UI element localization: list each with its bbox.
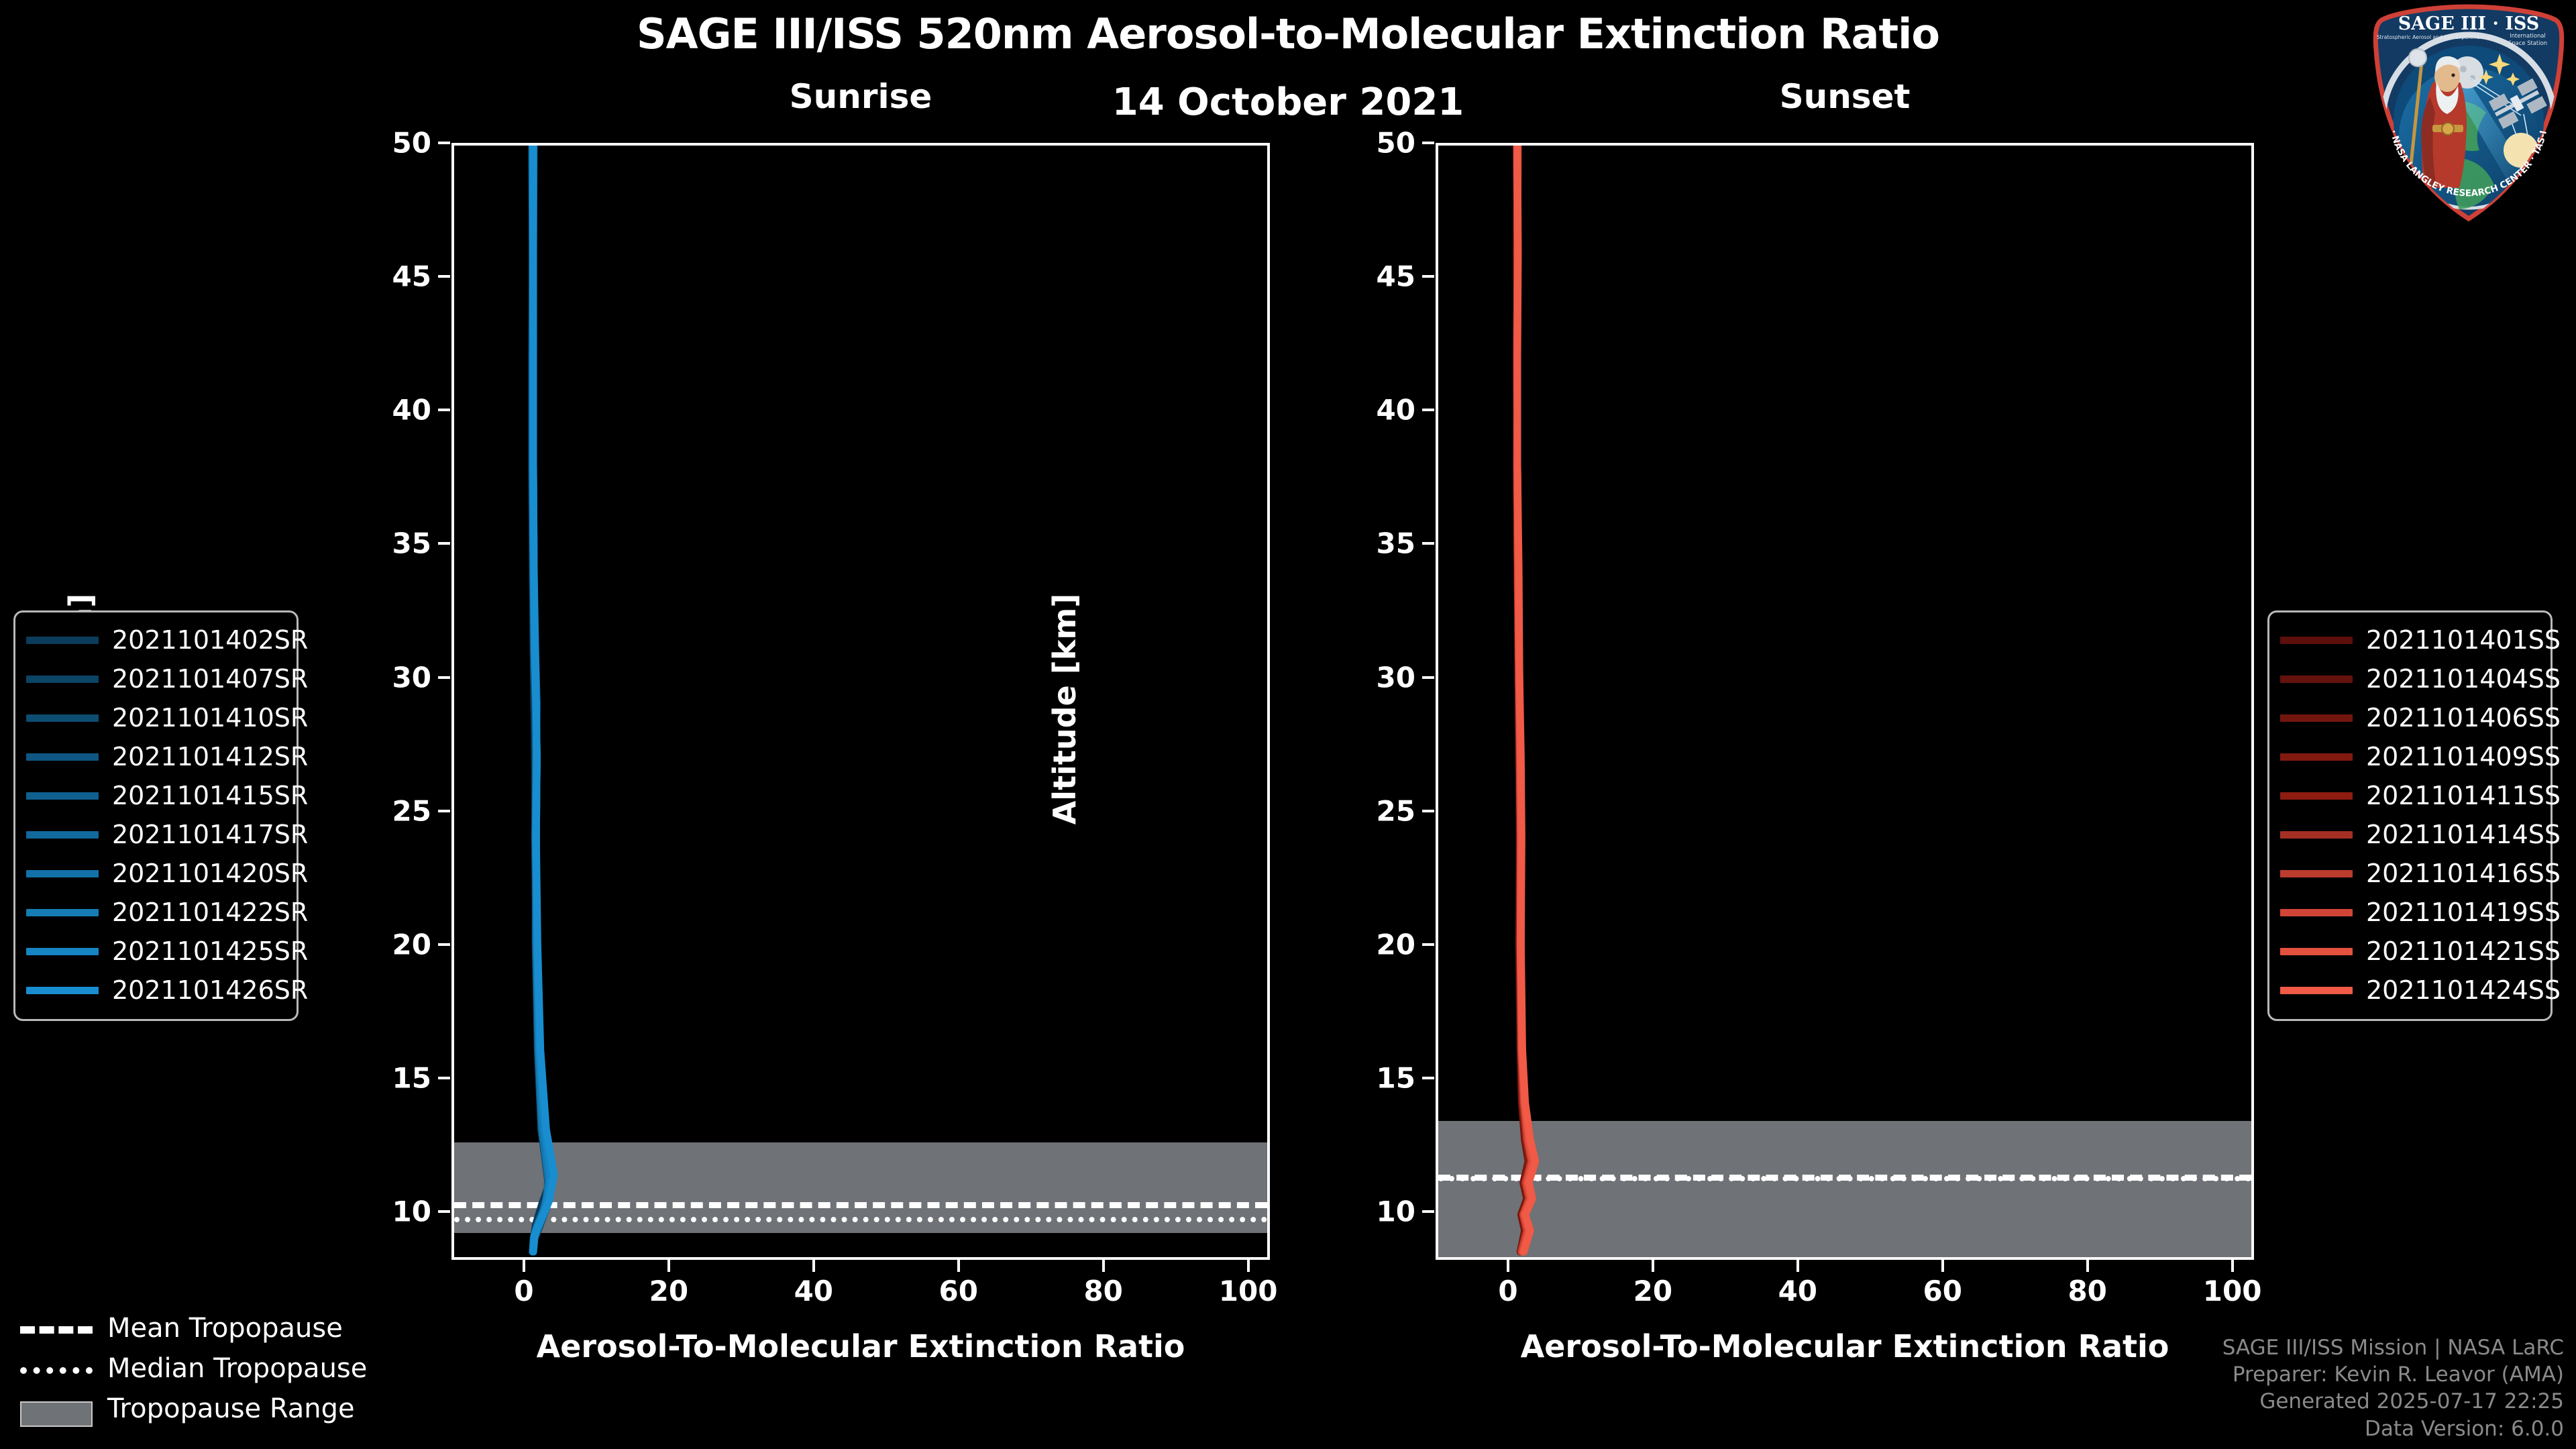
y-tick-mark — [1422, 810, 1434, 812]
legend-label: 2021101410SR — [112, 703, 308, 733]
x-tick-mark — [1941, 1260, 1944, 1272]
legend-item[interactable]: 2021101424SS — [2280, 971, 2540, 1010]
legend-label: 2021101402SR — [112, 625, 308, 655]
legend-color-swatch — [2280, 792, 2353, 800]
legend-item[interactable]: 2021101414SS — [2280, 815, 2540, 854]
y-tick-label: 30 — [351, 661, 431, 694]
y-tick-mark — [438, 1077, 450, 1079]
legend-item[interactable]: 2021101404SS — [2280, 659, 2540, 698]
legend-item[interactable]: 2021101417SR — [26, 815, 286, 854]
series-lines-sunset — [1438, 146, 2251, 1257]
credit-preparer: Preparer: Kevin R. Leavor (AMA) — [2222, 1361, 2564, 1388]
y-tick-mark — [438, 542, 450, 545]
legend-tropopause: Mean Tropopause Median Tropopause Tropop… — [20, 1308, 369, 1429]
legend-label-mean: Mean Tropopause — [107, 1313, 343, 1344]
x-tick-mark — [523, 1260, 525, 1272]
legend-label: 2021101425SR — [112, 936, 308, 966]
y-tick-label: 40 — [1335, 394, 1415, 427]
panel-title-sunset: Sunset — [1436, 77, 2254, 116]
y-tick-label: 10 — [1335, 1195, 1415, 1228]
y-tick-mark — [1422, 943, 1434, 946]
legend-label-range: Tropopause Range — [107, 1393, 355, 1424]
legend-label: 2021101420SR — [112, 859, 308, 888]
y-tick-mark — [1422, 1210, 1434, 1213]
legend-label: 2021101414SS — [2366, 820, 2561, 849]
legend-color-swatch — [2280, 714, 2353, 722]
legend-item[interactable]: 2021101425SR — [26, 932, 286, 971]
x-tick-label: 80 — [1083, 1275, 1122, 1307]
series-lines-sunrise — [454, 146, 1267, 1257]
y-tick-label: 40 — [351, 394, 431, 427]
legend-color-swatch — [2280, 948, 2353, 955]
legend-item[interactable]: 2021101406SS — [2280, 698, 2540, 737]
plot-panel-sunset: 101520253035404550 020406080100 — [1436, 143, 2254, 1260]
y-tick-label: 25 — [1335, 794, 1415, 827]
legend-color-swatch — [26, 637, 99, 644]
legend-color-swatch — [2280, 831, 2353, 839]
y-tick-mark — [1422, 409, 1434, 411]
plot-area-sunrise — [451, 143, 1270, 1260]
legend-color-swatch — [26, 909, 99, 916]
legend-label: 2021101426SR — [112, 975, 308, 1005]
legend-item[interactable]: 2021101426SR — [26, 971, 286, 1010]
legend-color-swatch — [2280, 676, 2353, 683]
legend-color-swatch — [26, 792, 99, 800]
legend-label: 2021101411SS — [2366, 781, 2561, 810]
legend-label: 2021101404SS — [2366, 664, 2561, 694]
legend-item[interactable]: 2021101415SR — [26, 776, 286, 815]
y-tick-label: 20 — [1335, 928, 1415, 961]
y-tick-label: 45 — [351, 260, 431, 293]
x-axis-title-sunset: Aerosol-To-Molecular Extinction Ratio — [1436, 1328, 2254, 1364]
x-tick-label: 20 — [649, 1275, 688, 1307]
x-tick-mark — [667, 1260, 670, 1272]
page-title: SAGE III/ISS 520nm Aerosol-to-Molecular … — [0, 9, 2576, 58]
legend-color-swatch — [2280, 909, 2353, 916]
legend-item[interactable]: 2021101419SS — [2280, 893, 2540, 932]
filled-rect-icon — [20, 1401, 93, 1416]
legend-color-swatch — [26, 948, 99, 955]
y-tick-mark — [438, 142, 450, 144]
legend-item[interactable]: 2021101410SR — [26, 698, 286, 737]
legend-sunset[interactable]: 2021101401SS2021101404SS2021101406SS2021… — [2267, 610, 2553, 1021]
y-tick-mark — [1422, 676, 1434, 679]
legend-label: 2021101416SS — [2366, 859, 2561, 888]
legend-label: 2021101409SS — [2366, 742, 2561, 771]
y-tick-label: 45 — [1335, 260, 1415, 293]
x-axis-title-sunrise: Aerosol-To-Molecular Extinction Ratio — [451, 1328, 1270, 1364]
y-tick-mark — [1422, 542, 1434, 545]
legend-color-swatch — [26, 831, 99, 839]
legend-label: 2021101417SR — [112, 820, 308, 849]
y-axis-title-sunset: Altitude [km] — [1046, 568, 1083, 850]
legend-color-swatch — [26, 714, 99, 722]
legend-item-mean-tropopause: Mean Tropopause — [20, 1308, 369, 1348]
x-tick-mark — [1796, 1260, 1799, 1272]
x-tick-label: 20 — [1633, 1275, 1672, 1307]
x-tick-mark — [2086, 1260, 2089, 1272]
x-tick-label: 60 — [1923, 1275, 1962, 1307]
y-tick-mark — [438, 275, 450, 278]
credit-mission: SAGE III/ISS Mission | NASA LaRC — [2222, 1334, 2564, 1361]
dashed-line-icon — [20, 1321, 93, 1336]
y-tick-mark — [1422, 1077, 1434, 1079]
patch-title: SAGE III · ISS — [2398, 13, 2540, 34]
credits-block: SAGE III/ISS Mission | NASA LaRC Prepare… — [2222, 1334, 2564, 1442]
x-tick-label: 100 — [1219, 1275, 1278, 1307]
legend-item[interactable]: 2021101420SR — [26, 854, 286, 893]
y-tick-mark — [1422, 275, 1434, 278]
patch-subtitle-right-1: International — [2510, 32, 2545, 39]
y-tick-label: 15 — [1335, 1062, 1415, 1095]
x-tick-mark — [812, 1260, 815, 1272]
y-tick-mark — [438, 1210, 450, 1213]
credit-generated: Generated 2025-07-17 22:25 — [2222, 1388, 2564, 1415]
y-tick-label: 25 — [351, 794, 431, 827]
credit-data-version: Data Version: 6.0.0 — [2222, 1415, 2564, 1442]
legend-label: 2021101401SS — [2366, 625, 2561, 655]
y-tick-mark — [438, 943, 450, 946]
y-tick-mark — [438, 810, 450, 812]
y-tick-mark — [438, 676, 450, 679]
legend-color-swatch — [2280, 870, 2353, 877]
legend-color-swatch — [26, 753, 99, 761]
legend-item[interactable]: 2021101407SR — [26, 659, 286, 698]
x-tick-label: 0 — [1498, 1275, 1517, 1307]
legend-sunrise[interactable]: 2021101402SR2021101407SR2021101410SR2021… — [13, 610, 299, 1021]
x-tick-mark — [1247, 1260, 1250, 1272]
x-tick-label: 100 — [2203, 1275, 2262, 1307]
y-tick-label: 15 — [351, 1062, 431, 1095]
legend-label: 2021101422SR — [112, 898, 308, 927]
x-tick-mark — [1102, 1260, 1105, 1272]
y-tick-mark — [1422, 142, 1434, 144]
legend-label: 2021101406SS — [2366, 703, 2561, 733]
y-tick-label: 10 — [351, 1195, 431, 1228]
y-tick-label: 50 — [1335, 127, 1415, 160]
legend-item[interactable]: 2021101421SS — [2280, 932, 2540, 971]
x-tick-mark — [957, 1260, 960, 1272]
patch-subtitle-right-2: Space Station — [2508, 40, 2547, 46]
chart-canvas: SAGE III/ISS 520nm Aerosol-to-Molecular … — [0, 0, 2576, 1449]
legend-color-swatch — [26, 870, 99, 877]
plot-panel-sunrise: 101520253035404550 020406080100 — [451, 143, 1270, 1260]
x-tick-label: 0 — [514, 1275, 533, 1307]
legend-label: 2021101421SS — [2366, 936, 2561, 966]
x-tick-label: 80 — [2068, 1275, 2106, 1307]
sage-iii-iss-mission-patch: SAGE III · ISS Stratospheric Aerosol and… — [2368, 3, 2569, 224]
legend-label-median: Median Tropopause — [107, 1353, 367, 1384]
legend-item[interactable]: 2021101411SS — [2280, 776, 2540, 815]
legend-item[interactable]: 2021101412SR — [26, 737, 286, 776]
legend-label: 2021101424SS — [2366, 975, 2561, 1005]
x-tick-mark — [2231, 1260, 2234, 1272]
x-tick-label: 40 — [794, 1275, 833, 1307]
patch-subtitle-left: Stratospheric Aerosol and Gas Experiment… — [2377, 34, 2491, 40]
x-tick-label: 60 — [939, 1275, 978, 1307]
legend-label: 2021101419SS — [2366, 898, 2561, 927]
legend-label: 2021101415SR — [112, 781, 308, 810]
y-tick-mark — [438, 409, 450, 411]
y-tick-label: 20 — [351, 928, 431, 961]
legend-item-tropopause-range: Tropopause Range — [20, 1389, 369, 1429]
y-tick-label: 35 — [351, 527, 431, 560]
y-tick-label: 30 — [1335, 661, 1415, 694]
legend-color-swatch — [2280, 637, 2353, 644]
legend-item[interactable]: 2021101409SS — [2280, 737, 2540, 776]
y-tick-label: 50 — [351, 127, 431, 160]
legend-color-swatch — [2280, 753, 2353, 761]
panel-title-sunrise: Sunrise — [451, 77, 1270, 116]
legend-item[interactable]: 2021101401SS — [2280, 621, 2540, 659]
dotted-line-icon — [20, 1361, 93, 1376]
legend-color-swatch — [2280, 987, 2353, 994]
legend-color-swatch — [26, 987, 99, 994]
x-tick-mark — [1507, 1260, 1509, 1272]
plot-area-sunset — [1436, 143, 2254, 1260]
legend-item-median-tropopause: Median Tropopause — [20, 1348, 369, 1389]
legend-label: 2021101412SR — [112, 742, 308, 771]
x-tick-mark — [1652, 1260, 1654, 1272]
legend-item[interactable]: 2021101416SS — [2280, 854, 2540, 893]
legend-item[interactable]: 2021101402SR — [26, 621, 286, 659]
y-tick-label: 35 — [1335, 527, 1415, 560]
legend-label: 2021101407SR — [112, 664, 308, 694]
legend-item[interactable]: 2021101422SR — [26, 893, 286, 932]
legend-color-swatch — [26, 676, 99, 683]
x-tick-label: 40 — [1778, 1275, 1817, 1307]
